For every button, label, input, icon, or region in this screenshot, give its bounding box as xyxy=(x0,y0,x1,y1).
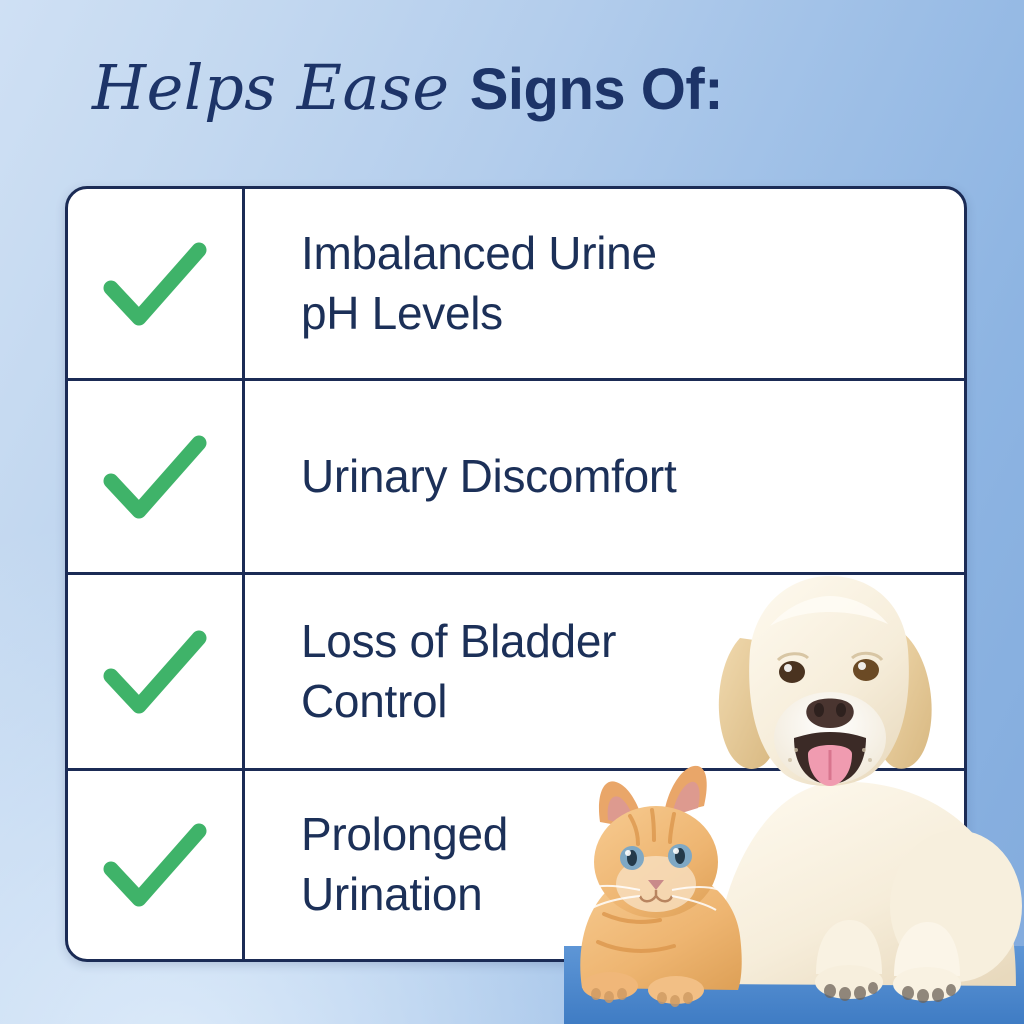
list-item: Imbalanced Urine pH Levels xyxy=(68,189,964,381)
list-item: Urinary Discomfort xyxy=(68,381,964,575)
list-item-label: Loss of Bladder Control xyxy=(301,612,616,732)
label-cell: Loss of Bladder Control xyxy=(245,575,964,768)
signs-list: Imbalanced Urine pH Levels Urinary Disco… xyxy=(68,189,964,959)
check-cell xyxy=(68,189,245,378)
list-item-label: Imbalanced Urine pH Levels xyxy=(301,224,657,344)
check-icon xyxy=(99,236,211,332)
check-icon xyxy=(99,624,211,720)
poster-canvas: Helps Ease Signs Of: Imbalanced Urine pH… xyxy=(0,0,1024,1024)
signs-card: Imbalanced Urine pH Levels Urinary Disco… xyxy=(65,186,967,962)
page-title-bold: Signs Of: xyxy=(470,57,723,122)
check-cell xyxy=(68,575,245,768)
page-title: Helps Ease Signs Of: xyxy=(92,57,723,119)
check-icon xyxy=(99,429,211,525)
label-cell: Prolonged Urination xyxy=(245,771,964,959)
list-item: Loss of Bladder Control xyxy=(68,575,964,771)
list-item-label: Prolonged Urination xyxy=(301,805,508,925)
list-item-label: Urinary Discomfort xyxy=(301,447,676,507)
label-cell: Imbalanced Urine pH Levels xyxy=(245,189,964,378)
check-cell xyxy=(68,771,245,959)
list-item: Prolonged Urination xyxy=(68,771,964,959)
label-cell: Urinary Discomfort xyxy=(245,381,964,572)
page-title-italic: Helps Ease xyxy=(92,51,470,124)
check-icon xyxy=(99,817,211,913)
check-cell xyxy=(68,381,245,572)
